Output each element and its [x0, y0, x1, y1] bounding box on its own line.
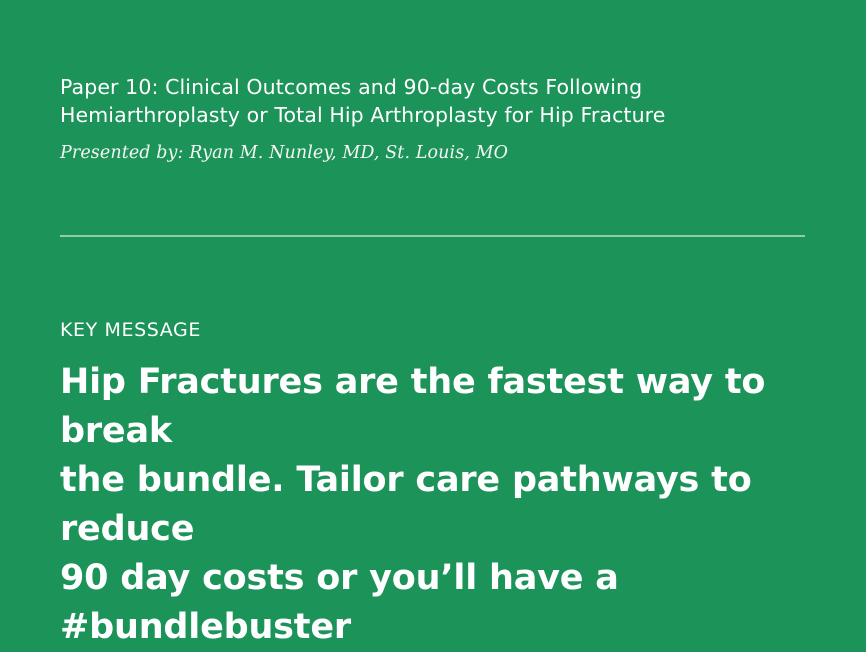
presenter-byline: Presented by: Ryan M. Nunley, MD, St. Lo…	[60, 142, 820, 164]
slide-header: Paper 10: Clinical Outcomes and 90-day C…	[60, 74, 820, 164]
presentation-slide: Paper 10: Clinical Outcomes and 90-day C…	[0, 0, 866, 578]
horizontal-divider	[60, 235, 805, 237]
key-message-section: KEY MESSAGE Hip Fractures are the fastes…	[60, 318, 850, 652]
key-message-text: Hip Fractures are the fastest way to bre…	[60, 358, 820, 652]
key-message-label: KEY MESSAGE	[60, 318, 850, 342]
page-title: Paper 10: Clinical Outcomes and 90-day C…	[60, 74, 720, 129]
